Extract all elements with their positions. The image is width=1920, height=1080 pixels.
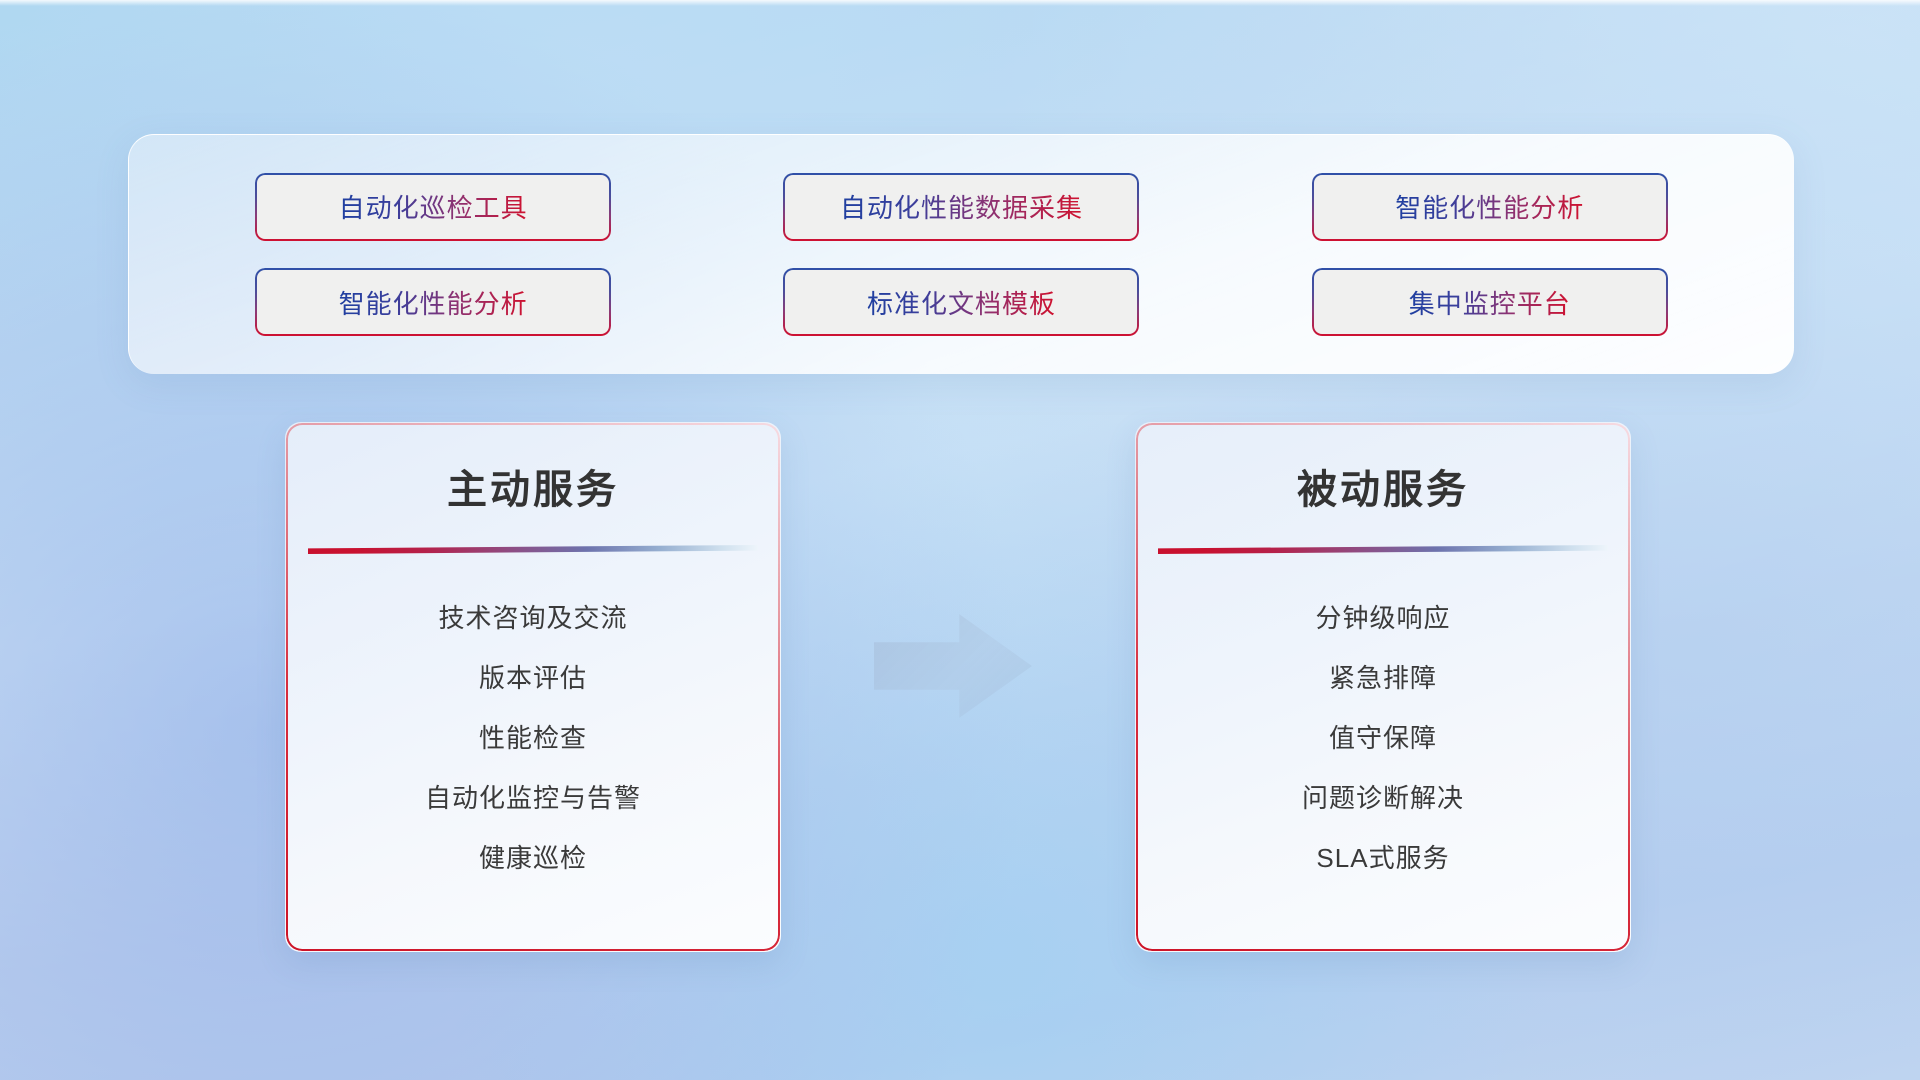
service-item: 问题诊断解决 — [1136, 768, 1630, 828]
service-item: 性能检查 — [286, 708, 780, 768]
capability-tag[interactable]: 智能化性能分析 — [255, 268, 611, 336]
service-item: SLA式服务 — [1136, 828, 1630, 888]
service-card-proactive[interactable]: 主动服务 技术咨询及交流 版本评估 性能检查 自动化监控与告警 健康巡检 — [285, 422, 781, 952]
capability-tag[interactable]: 自动化巡检工具 — [255, 173, 611, 241]
service-item: 版本评估 — [286, 648, 780, 708]
slide-canvas: 自动化巡检工具 自动化性能数据采集 智能化性能分析 智能化性能分析 标准化文档模… — [0, 0, 1920, 1080]
capability-tag[interactable]: 标准化文档模板 — [783, 268, 1139, 336]
service-card-title: 被动服务 — [1136, 457, 1630, 515]
service-item: 值守保障 — [1136, 708, 1630, 768]
arrow-right-icon — [874, 612, 1032, 720]
capability-tag[interactable]: 集中监控平台 — [1312, 268, 1668, 336]
service-card-title: 主动服务 — [286, 457, 780, 515]
service-card-reactive[interactable]: 被动服务 分钟级响应 紧急排障 值守保障 问题诊断解决 SLA式服务 — [1135, 422, 1631, 952]
service-item-list: 技术咨询及交流 版本评估 性能检查 自动化监控与告警 健康巡检 — [286, 588, 780, 888]
title-divider — [1158, 545, 1608, 554]
service-item: 紧急排障 — [1136, 648, 1630, 708]
capability-tag-label: 标准化文档模板 — [867, 284, 1056, 321]
service-item-list: 分钟级响应 紧急排障 值守保障 问题诊断解决 SLA式服务 — [1136, 588, 1630, 888]
service-item: 自动化监控与告警 — [286, 768, 780, 828]
service-item: 健康巡检 — [286, 828, 780, 888]
service-item: 分钟级响应 — [1136, 588, 1630, 648]
capability-tag[interactable]: 自动化性能数据采集 — [783, 173, 1139, 241]
capability-tag-label: 自动化巡检工具 — [339, 188, 528, 225]
service-item: 技术咨询及交流 — [286, 588, 780, 648]
capability-tag[interactable]: 智能化性能分析 — [1312, 173, 1668, 241]
capability-tag-label: 智能化性能分析 — [1395, 188, 1584, 225]
capability-tag-label: 集中监控平台 — [1409, 284, 1571, 321]
capability-tag-label: 自动化性能数据采集 — [840, 188, 1083, 225]
capabilities-panel: 自动化巡检工具 自动化性能数据采集 智能化性能分析 智能化性能分析 标准化文档模… — [128, 134, 1794, 374]
title-divider — [308, 545, 758, 554]
capability-tag-label: 智能化性能分析 — [339, 284, 528, 321]
